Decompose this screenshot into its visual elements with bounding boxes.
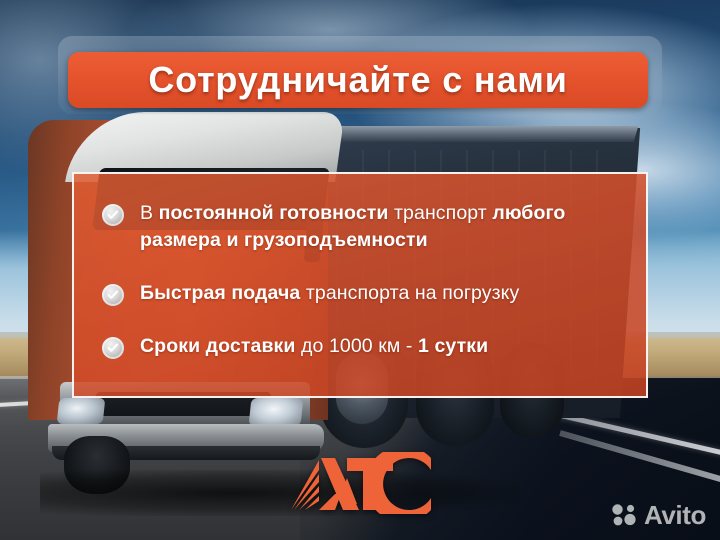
- atc-logo: [285, 452, 435, 514]
- feature-text-1: В постоянной готовности транспорт любого…: [140, 200, 624, 254]
- header-banner: Сотрудничайте с нами: [68, 52, 648, 108]
- page-title: Сотрудничайте с нами: [148, 62, 567, 98]
- avito-logo-icon: [611, 504, 637, 526]
- feature-text-3: Сроки доставки до 1000 км - 1 сутки: [140, 333, 488, 360]
- check-circle-icon: [102, 204, 124, 226]
- truck-trailer-roof: [298, 126, 639, 142]
- avito-watermark: Avito: [611, 502, 706, 528]
- truck-headlight-left: [57, 398, 106, 424]
- features-panel: В постоянной готовности транспорт любого…: [72, 172, 648, 398]
- advertisement-banner: Сотрудничайте с нами В постоянной готовн…: [0, 0, 720, 540]
- check-circle-icon: [102, 337, 124, 359]
- check-circle-icon: [102, 284, 124, 306]
- avito-wordmark: Avito: [644, 502, 706, 528]
- list-item: Сроки доставки до 1000 км - 1 сутки: [96, 333, 624, 360]
- feature-text-2: Быстрая подача транспорта на погрузку: [140, 280, 519, 307]
- truck-ground-shadow: [40, 470, 520, 516]
- truck-headlight-right: [249, 398, 304, 426]
- list-item: Быстрая подача транспорта на погрузку: [96, 280, 624, 307]
- list-item: В постоянной готовности транспорт любого…: [96, 200, 624, 254]
